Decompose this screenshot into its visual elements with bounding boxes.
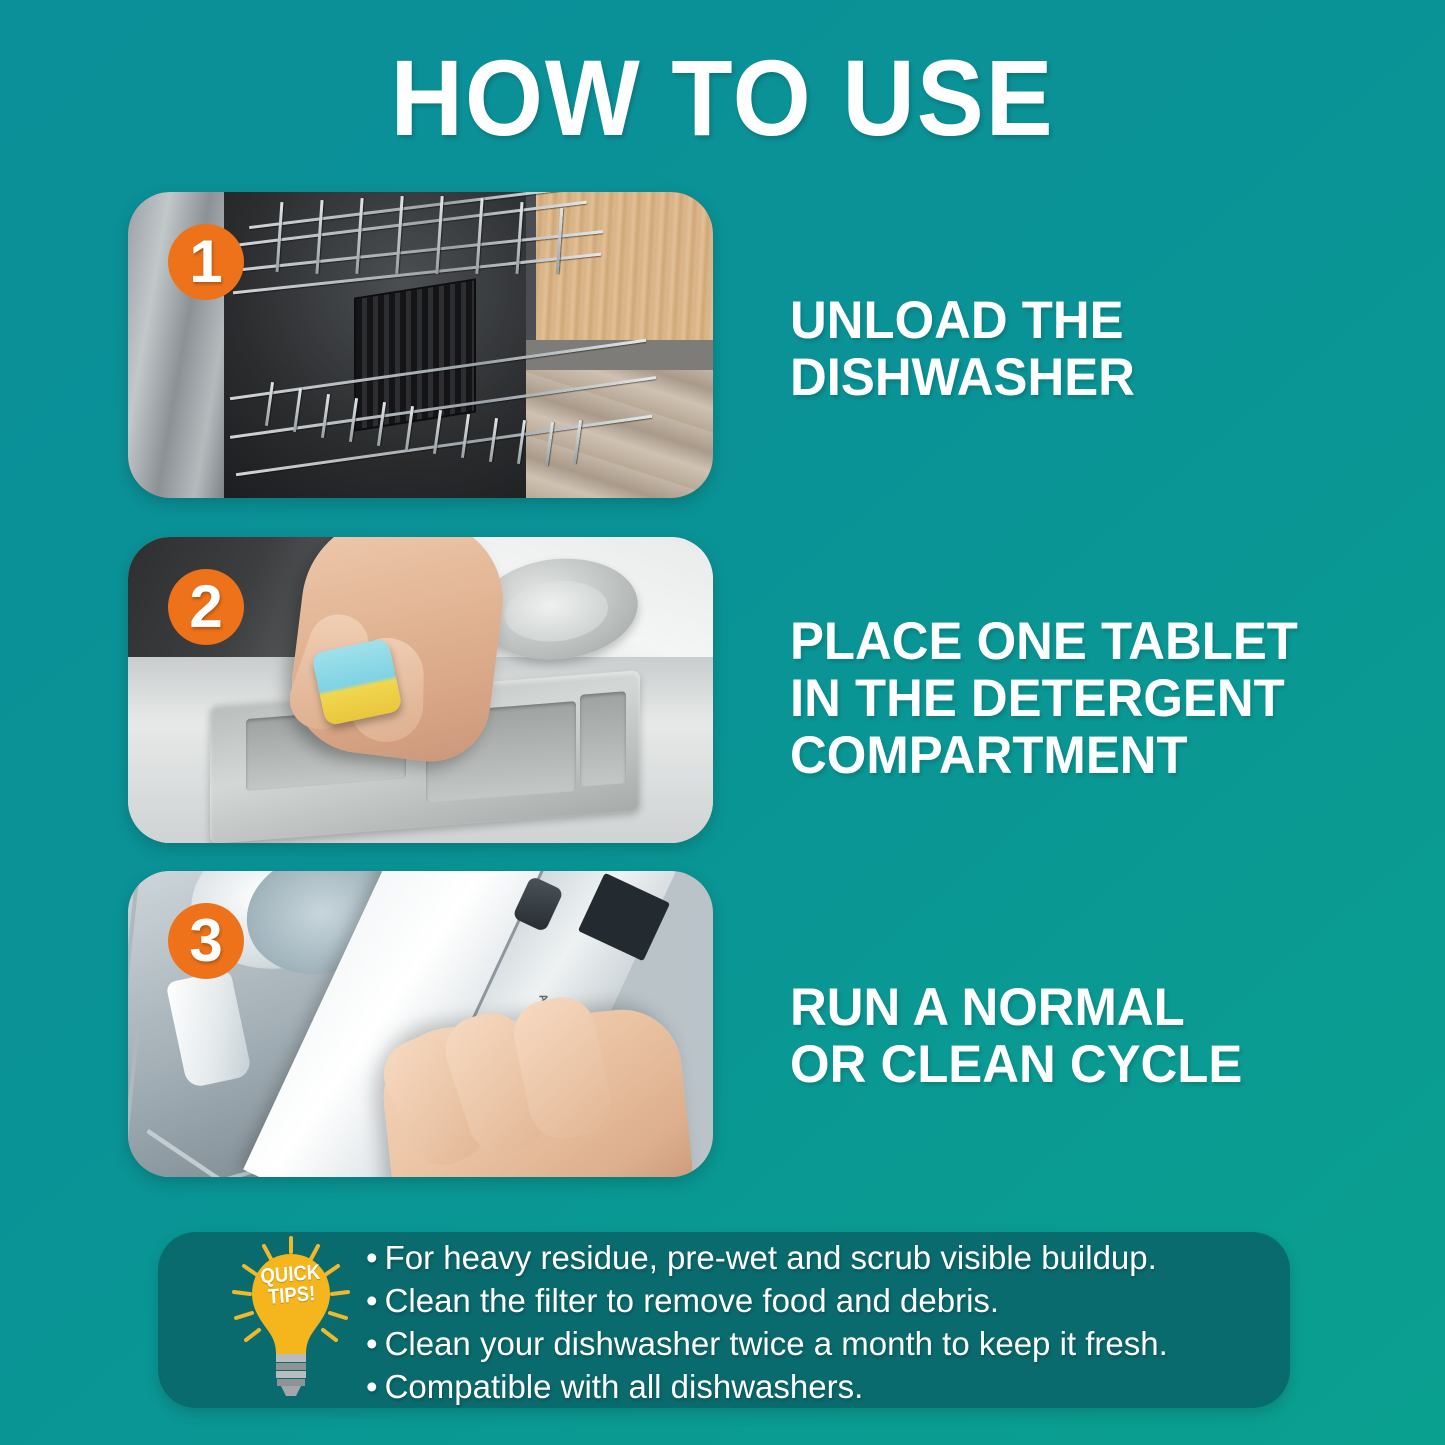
step-number-badge: 1 (168, 224, 244, 300)
bullet-icon: • (366, 1365, 378, 1408)
page-title: HOW TO USE (51, 44, 1395, 152)
tip-text: Clean the filter to remove food and debr… (385, 1282, 1000, 1319)
tip-item: •Clean the filter to remove food and deb… (366, 1279, 1266, 1322)
step-row-2: 2 PLACE ONE TABLET IN THE DETERGENT COMP… (0, 537, 1445, 843)
step-2-label-line-1: PLACE ONE TABLET (790, 613, 1298, 670)
step-3-label-line-2: OR CLEAN CYCLE (790, 1036, 1242, 1093)
tip-text: Compatible with all dishwashers. (385, 1368, 864, 1405)
tip-text: For heavy residue, pre-wet and scrub vis… (385, 1239, 1157, 1276)
bulb-base (276, 1354, 306, 1396)
step-number-badge: 2 (168, 569, 244, 645)
step-1-label: UNLOAD THE DISHWASHER (790, 292, 1135, 406)
step-2-label-line-3: COMPARTMENT (790, 727, 1298, 784)
step-3-label: RUN A NORMAL OR CLEAN CYCLE (790, 979, 1242, 1093)
step-number-badge: 3 (168, 903, 244, 979)
step-1-photo: 1 (128, 192, 713, 498)
dishwasher-tablet (311, 638, 403, 727)
step-3-photo: Auto Off 3 (128, 871, 713, 1177)
step-2-label: PLACE ONE TABLET IN THE DETERGENT COMPAR… (790, 613, 1298, 784)
step-row-3: Auto Off 3 RUN A NORMAL OR CLEAN CYCLE (0, 871, 1445, 1177)
rinse-aid-dispenser-lid (501, 576, 611, 647)
step-1-label-line-2: DISHWASHER (790, 349, 1135, 406)
step-2-photo: 2 (128, 537, 713, 843)
step-row-1: 1 UNLOAD THE DISHWASHER (0, 192, 1445, 498)
bulb-glass (252, 1254, 330, 1354)
lightbulb-icon: QUICK TIPS! (226, 1234, 356, 1402)
bullet-icon: • (366, 1279, 378, 1322)
tip-item: •Clean your dishwasher twice a month to … (366, 1322, 1266, 1365)
tip-item: •For heavy residue, pre-wet and scrub vi… (366, 1236, 1266, 1279)
cutlery-basket (354, 278, 476, 431)
quick-tips-box: QUICK TIPS! •For heavy residue, pre-wet … (158, 1232, 1290, 1408)
tip-text: Clean your dishwasher twice a month to k… (385, 1325, 1168, 1362)
step-3-label-line-1: RUN A NORMAL (790, 979, 1242, 1036)
tip-item: •Compatible with all dishwashers. (366, 1365, 1266, 1408)
tips-list: •For heavy residue, pre-wet and scrub vi… (366, 1236, 1266, 1408)
wood-panel-edge (526, 192, 536, 347)
step-1-label-line-1: UNLOAD THE (790, 292, 1135, 349)
bullet-icon: • (366, 1322, 378, 1365)
how-to-use-infographic: HOW TO USE (0, 0, 1445, 1445)
bullet-icon: • (366, 1236, 378, 1279)
detergent-compartment-lid-rail (580, 691, 626, 787)
step-2-label-line-2: IN THE DETERGENT (790, 670, 1298, 727)
